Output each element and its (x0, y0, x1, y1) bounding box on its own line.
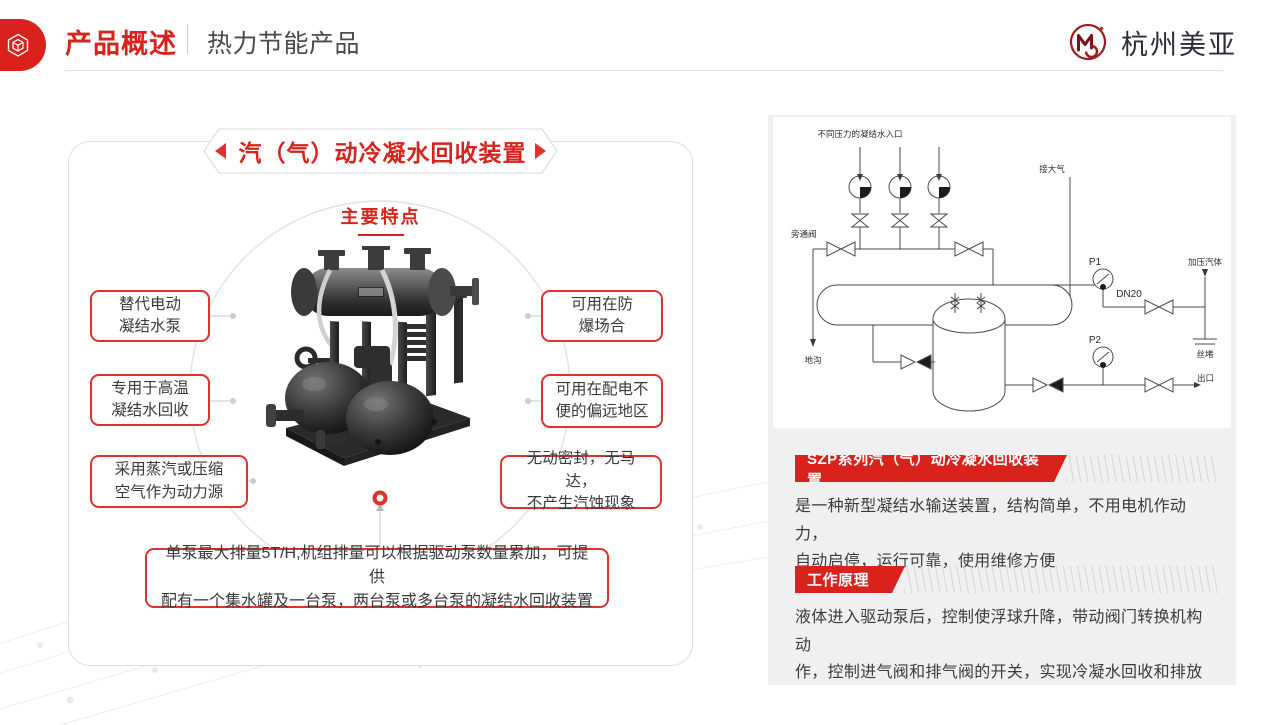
page-title: 产品概述 (65, 22, 177, 61)
product-photo (258, 246, 490, 481)
header-rule (65, 70, 1223, 71)
label-inlet: 不同压力的凝结水入口 (817, 129, 902, 139)
header-badge (0, 19, 46, 71)
label-plug: 丝堵 (1196, 349, 1214, 359)
feature-box-text: 无动密封，无马达， 不产生汽蚀现象 (512, 448, 650, 515)
label-gauge-p2: P2 (1089, 335, 1102, 346)
label-to-atmosphere: 接大气 (1039, 164, 1065, 174)
info-section: 工作原理 液体进入驱动泵后，控制使浮球升降，带动阀门转换机构动 作，控制进气阀和… (795, 566, 1218, 687)
feature-box[interactable]: 无动密封，无马达， 不产生汽蚀现象 (500, 455, 662, 509)
section-hatch-decoration (1066, 455, 1218, 482)
feature-box-text: 替代电动 凝结水泵 (119, 294, 181, 339)
feature-box[interactable]: 采用蒸汽或压缩 空气作为动力源 (90, 455, 248, 508)
heading-underline (358, 234, 404, 236)
label-outlet: 出口 (1197, 373, 1214, 383)
header-divider (187, 24, 188, 54)
page-subtitle: 热力节能产品 (207, 24, 360, 60)
product-title-banner (203, 128, 558, 174)
feature-box-text: 采用蒸汽或压缩 空气作为动力源 (115, 459, 224, 504)
label-gauge-p1: P1 (1089, 257, 1102, 268)
info-section-body: 是一种新型凝结水输送装置，结构简单，不用电机作动力， 自动启停，运行可靠，使用维… (795, 493, 1218, 576)
label-pipe-size: DN20 (1116, 289, 1142, 300)
label-bypass-valve: 旁通阀 (791, 229, 817, 239)
szp-flow-diagram: 不同压力的凝结水入口 旁通阀 接大气 地沟 加压汽体 丝堵 出口 P1 P2 D… (773, 117, 1231, 428)
circle-m-monogram-icon (1064, 18, 1112, 66)
feature-box[interactable]: 可用在防 爆场合 (541, 290, 663, 342)
page-header: 产品概述 热力节能产品 杭州美亚 (0, 0, 1285, 88)
info-section-tag: SZP系列汽（气）动冷凝水回收装置 (795, 455, 1067, 482)
info-section-body: 液体进入驱动泵后，控制使浮球升降，带动阀门转换机构动 作，控制进气阀和排气阀的开… (795, 604, 1218, 687)
cube-hexagon-icon (5, 32, 31, 58)
feature-summary-box[interactable]: 单泵最大排量5T/H,机组排量可以根据驱动泵数量累加，可提供 配有一个集水罐及一… (145, 548, 609, 608)
info-section-tag: 工作原理 (795, 566, 905, 593)
info-section-header: 工作原理 (795, 566, 1218, 593)
feature-box-text: 专用于高温 凝结水回收 (111, 378, 189, 423)
label-pressurized-gas: 加压汽体 (1188, 257, 1223, 267)
section-hatch-decoration (904, 566, 1218, 593)
info-section-header: SZP系列汽（气）动冷凝水回收装置 (795, 455, 1218, 482)
brand-name: 杭州美亚 (1121, 23, 1237, 62)
feature-summary-text: 单泵最大排量5T/H,机组排量可以根据驱动泵数量累加，可提供 配有一个集水罐及一… (161, 542, 593, 614)
feature-box[interactable]: 可用在配电不 便的偏远地区 (541, 374, 663, 428)
info-section: SZP系列汽（气）动冷凝水回收装置 是一种新型凝结水输送装置，结构简单，不用电机… (795, 455, 1218, 576)
feature-box[interactable]: 替代电动 凝结水泵 (90, 290, 210, 342)
feature-box-text: 可用在配电不 便的偏远地区 (555, 379, 648, 424)
feature-box-text: 可用在防 爆场合 (571, 294, 633, 339)
main-features-heading-text: 主要特点 (68, 203, 693, 229)
label-drain: 地沟 (804, 355, 821, 365)
brand-logo: 杭州美亚 (1064, 18, 1237, 66)
flow-diagram-container: 不同压力的凝结水入口 旁通阀 接大气 地沟 加压汽体 丝堵 出口 P1 P2 D… (773, 117, 1231, 428)
feature-box[interactable]: 专用于高温 凝结水回收 (90, 374, 210, 426)
